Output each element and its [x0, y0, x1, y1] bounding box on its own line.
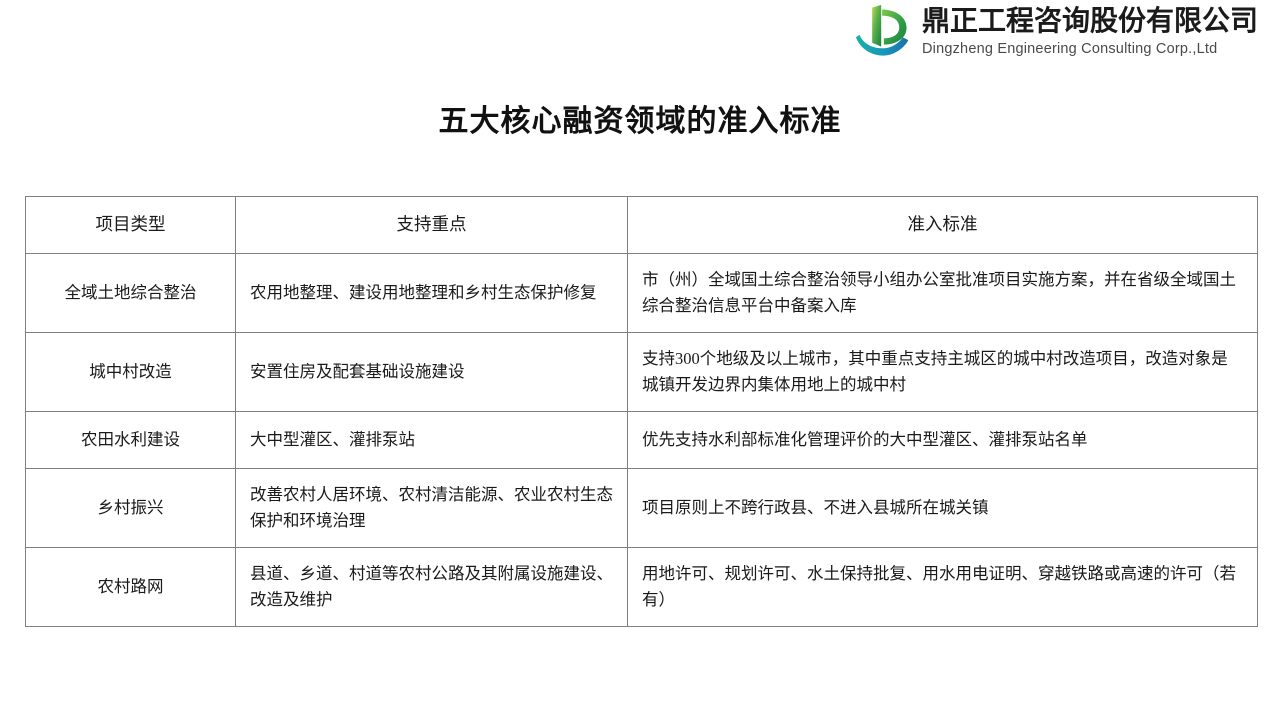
page-title: 五大核心融资领域的准入标准 — [0, 96, 1280, 140]
table-row: 农村路网 县道、乡道、村道等农村公路及其附属设施建设、改造及维护 用地许可、规划… — [26, 548, 1258, 627]
column-header-entry-criteria: 准入标准 — [628, 197, 1258, 254]
cell-project-type: 全域土地综合整治 — [26, 254, 236, 333]
cell-entry-criteria: 优先支持水利部标准化管理评价的大中型灌区、灌排泵站名单 — [628, 412, 1258, 469]
criteria-table: 项目类型 支持重点 准入标准 全域土地综合整治 农用地整理、建设用地整理和乡村生… — [25, 196, 1258, 627]
cell-support-focus: 大中型灌区、灌排泵站 — [236, 412, 628, 469]
company-brand: 鼎正工程咨询股份有限公司 Dingzheng Engineering Consu… — [854, 4, 1258, 60]
company-name-en: Dingzheng Engineering Consulting Corp.,L… — [922, 42, 1217, 57]
criteria-table-container: 项目类型 支持重点 准入标准 全域土地综合整治 农用地整理、建设用地整理和乡村生… — [25, 196, 1257, 627]
brand-text-block: 鼎正工程咨询股份有限公司 Dingzheng Engineering Consu… — [922, 7, 1258, 57]
table-row: 全域土地综合整治 农用地整理、建设用地整理和乡村生态保护修复 市（州）全域国土综… — [26, 254, 1258, 333]
table-row: 乡村振兴 改善农村人居环境、农村清洁能源、农业农村生态保护和环境治理 项目原则上… — [26, 469, 1258, 548]
cell-support-focus: 农用地整理、建设用地整理和乡村生态保护修复 — [236, 254, 628, 333]
company-name-cn: 鼎正工程咨询股份有限公司 — [922, 7, 1258, 35]
cell-entry-criteria: 支持300个地级及以上城市，其中重点支持主城区的城中村改造项目，改造对象是城镇开… — [628, 333, 1258, 412]
cell-project-type: 乡村振兴 — [26, 469, 236, 548]
dingzheng-d-logo-icon — [854, 4, 912, 60]
cell-entry-criteria: 项目原则上不跨行政县、不进入县城所在城关镇 — [628, 469, 1258, 548]
table-row: 城中村改造 安置住房及配套基础设施建设 支持300个地级及以上城市，其中重点支持… — [26, 333, 1258, 412]
cell-entry-criteria: 市（州）全域国土综合整治领导小组办公室批准项目实施方案，并在省级全域国土综合整治… — [628, 254, 1258, 333]
cell-project-type: 城中村改造 — [26, 333, 236, 412]
cell-support-focus: 安置住房及配套基础设施建设 — [236, 333, 628, 412]
table-row: 农田水利建设 大中型灌区、灌排泵站 优先支持水利部标准化管理评价的大中型灌区、灌… — [26, 412, 1258, 469]
cell-support-focus: 县道、乡道、村道等农村公路及其附属设施建设、改造及维护 — [236, 548, 628, 627]
cell-support-focus: 改善农村人居环境、农村清洁能源、农业农村生态保护和环境治理 — [236, 469, 628, 548]
column-header-project-type: 项目类型 — [26, 197, 236, 254]
table-header-row: 项目类型 支持重点 准入标准 — [26, 197, 1258, 254]
column-header-support-focus: 支持重点 — [236, 197, 628, 254]
cell-project-type: 农村路网 — [26, 548, 236, 627]
cell-project-type: 农田水利建设 — [26, 412, 236, 469]
cell-entry-criteria: 用地许可、规划许可、水土保持批复、用水用电证明、穿越铁路或高速的许可（若有） — [628, 548, 1258, 627]
